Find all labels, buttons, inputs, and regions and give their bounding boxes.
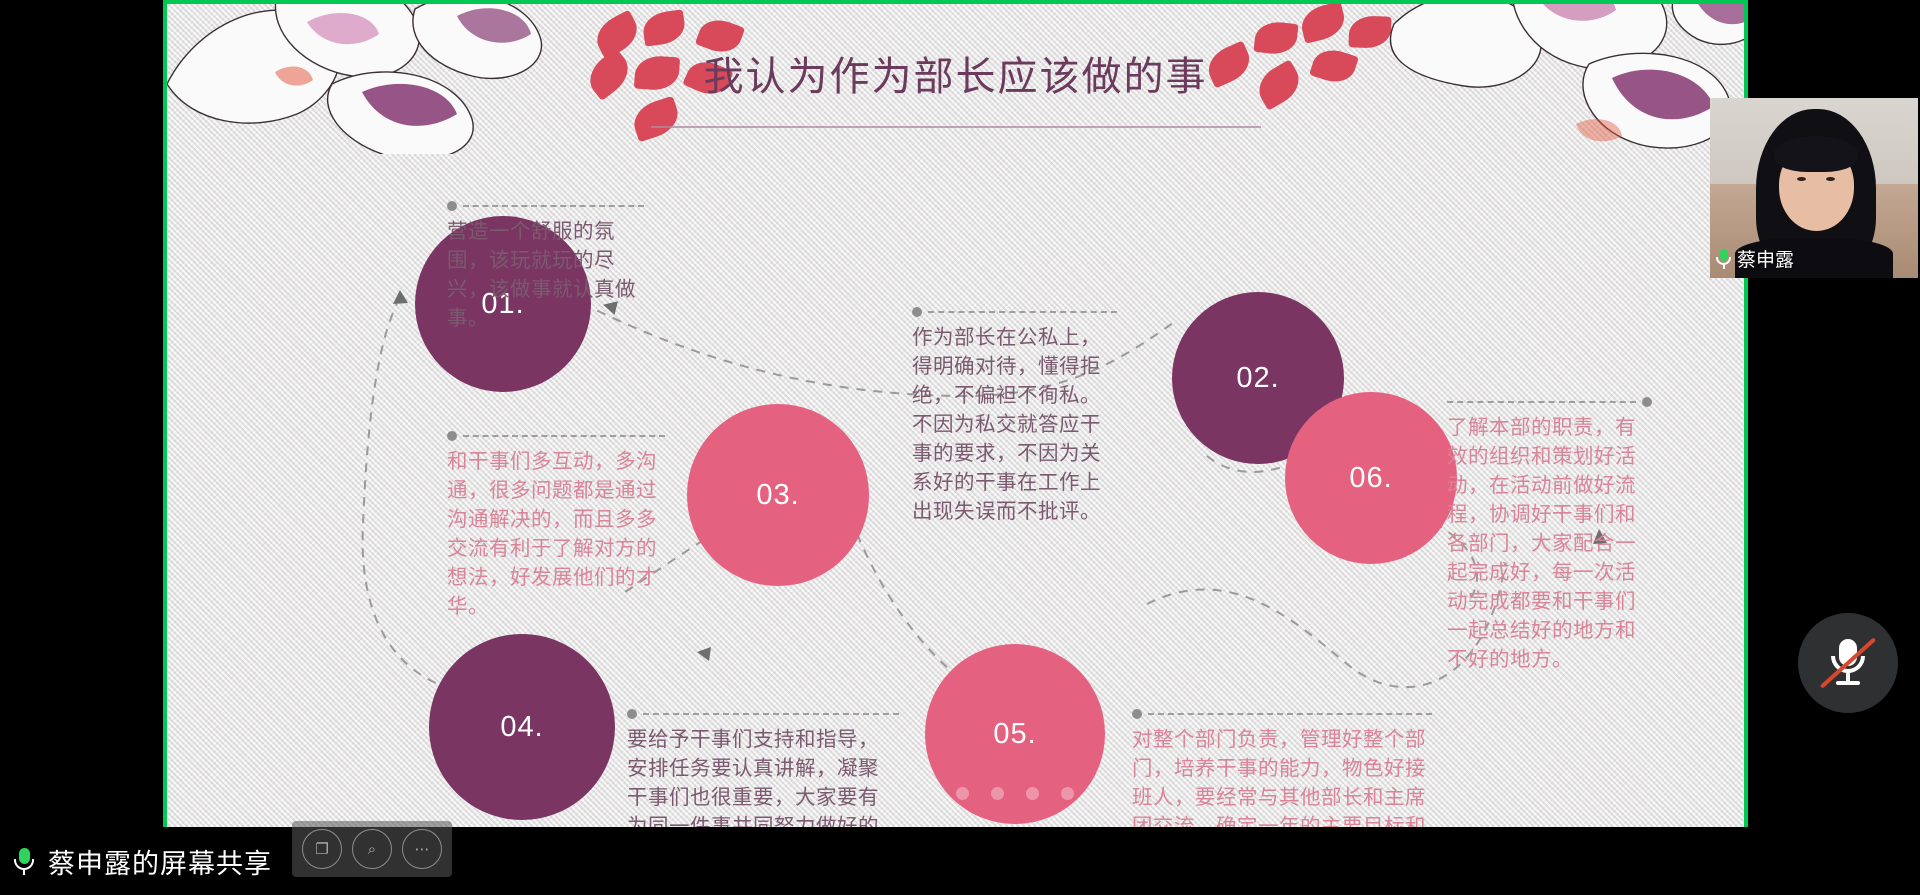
- screen-share-status-text: 蔡申露的屏幕共享: [48, 842, 272, 881]
- leader-dot-icon: [1642, 397, 1652, 407]
- title-underline: [651, 126, 1261, 128]
- node-label: 06.: [1349, 462, 1392, 495]
- node-label: 03.: [756, 479, 799, 512]
- text-block-03: 和干事们多互动，多沟通，很多问题都是通过沟通解决的，而且多多交流有利于了解对方的…: [447, 428, 665, 622]
- petal: [641, 9, 687, 47]
- leader-line: [912, 304, 1117, 320]
- leader-dash: [463, 435, 665, 437]
- leader-dot-icon: [627, 709, 637, 719]
- text-block-01: 营造一个舒服的氛围，该玩就玩的尽兴，该做事就认真做事。: [447, 198, 644, 334]
- node-circle-05[interactable]: 05.: [925, 644, 1105, 824]
- progress-dot: [956, 787, 969, 800]
- node-label: 04.: [500, 711, 543, 744]
- mute-toggle-button[interactable]: [1798, 613, 1898, 713]
- leader-dot-icon: [1132, 709, 1142, 719]
- ellipsis-icon[interactable]: ⋯: [402, 829, 442, 869]
- microphone-icon: [1716, 249, 1731, 269]
- text-block-body: 作为部长在公私上，得明确对待，懂得拒绝，不偏袒不徇私。不因为私交就答应干事的要求…: [912, 324, 1117, 527]
- node-circle-04[interactable]: 04.: [429, 634, 615, 820]
- petal: [1298, 1, 1349, 44]
- presentation-slide: 我认为作为部长应该做的事: [167, 4, 1744, 884]
- text-block-02: 作为部长在公私上，得明确对待，懂得拒绝，不偏袒不徇私。不因为私交就答应干事的要求…: [912, 304, 1117, 527]
- slide-progress-dots: [925, 787, 1105, 800]
- shared-screen-region: 我认为作为部长应该做的事: [163, 0, 1748, 888]
- window-icon[interactable]: ❐: [302, 829, 342, 869]
- text-block-body: 和干事们多互动，多沟通，很多问题都是通过沟通解决的，而且多多交流有利于了解对方的…: [447, 448, 665, 622]
- progress-dot: [1026, 787, 1039, 800]
- leader-dash: [1148, 713, 1432, 715]
- leader-dash: [643, 713, 899, 715]
- video-person-bangs: [1774, 136, 1857, 172]
- leader-line: [627, 706, 899, 722]
- participant-name-label: 蔡申露: [1716, 245, 1794, 272]
- leader-dot-icon: [912, 307, 922, 317]
- leader-dash: [928, 311, 1117, 313]
- leader-dash: [1447, 401, 1636, 403]
- petal: [629, 96, 683, 143]
- microphone-icon[interactable]: [14, 848, 34, 875]
- text-block-body: 了解本部的职责，有效的组织和策划好活动，在活动前做好流程，协调好干事们和各部门，…: [1447, 414, 1652, 675]
- participant-name: 蔡申露: [1737, 245, 1794, 272]
- page-title: 我认为作为部长应该做的事: [167, 44, 1744, 102]
- screen-share-window: 我认为作为部长应该做的事: [0, 0, 1920, 895]
- leader-dot-icon: [447, 201, 457, 211]
- progress-dot: [1061, 787, 1074, 800]
- leader-line: [1447, 394, 1652, 410]
- leader-dash: [463, 205, 644, 207]
- node-label: 02.: [1236, 362, 1279, 395]
- leader-dot-icon: [447, 431, 457, 441]
- arrow-head: [697, 647, 711, 661]
- node-circle-06[interactable]: 06.: [1285, 392, 1457, 564]
- arrow-head: [393, 290, 408, 304]
- bottom-status-bar: 蔡申露的屏幕共享: [0, 827, 1920, 895]
- leader-line: [1132, 706, 1432, 722]
- progress-dot: [991, 787, 1004, 800]
- participant-video-tile[interactable]: 蔡申露: [1710, 98, 1918, 278]
- text-block-body: 营造一个舒服的氛围，该玩就玩的尽兴，该做事就认真做事。: [447, 218, 644, 334]
- node-label: 05.: [993, 718, 1036, 751]
- text-block-06: 了解本部的职责，有效的组织和策划好活动，在活动前做好流程，协调好干事们和各部门，…: [1447, 394, 1652, 675]
- node-circle-03[interactable]: 03.: [687, 404, 869, 586]
- search-icon[interactable]: ⌕: [352, 829, 392, 869]
- leader-line: [447, 428, 665, 444]
- presentation-mini-toolbar[interactable]: ❐ ⌕ ⋯: [292, 821, 452, 877]
- leader-line: [447, 198, 644, 214]
